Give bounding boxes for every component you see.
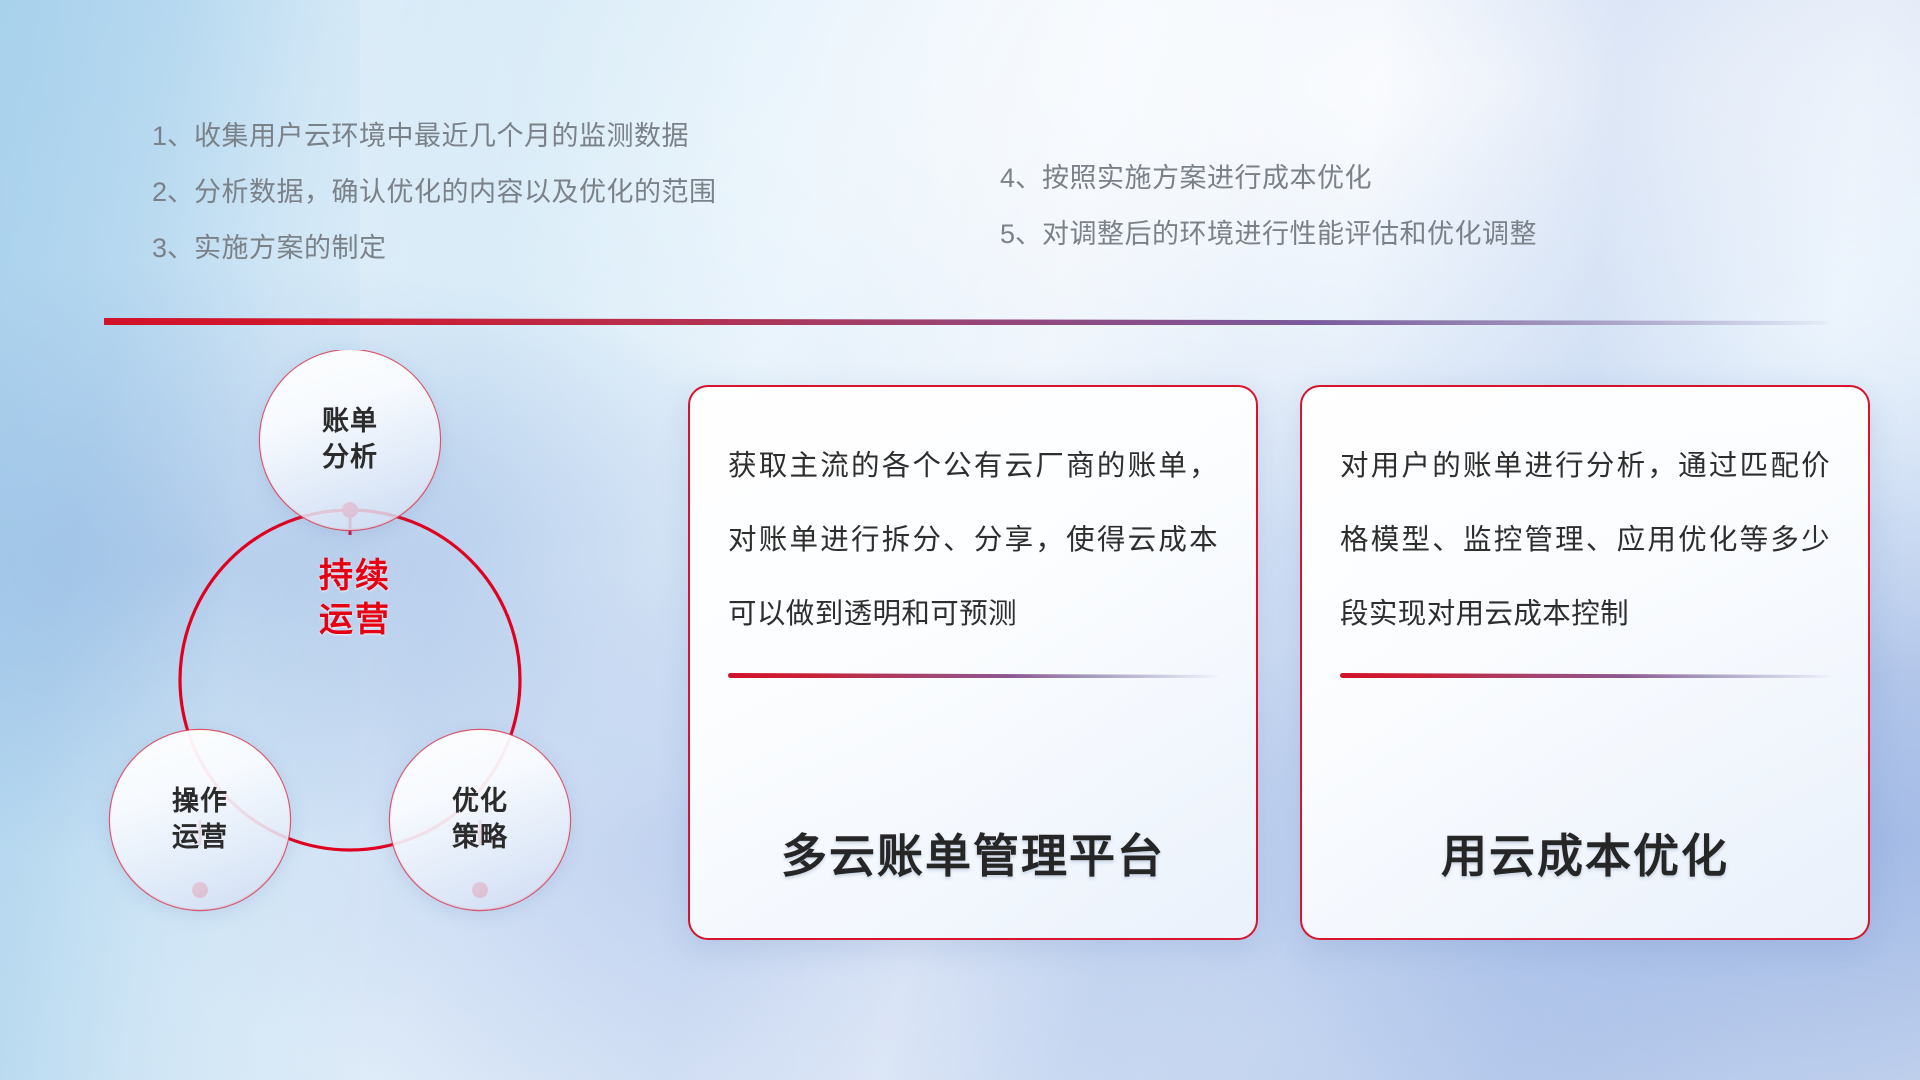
venn-bubble-line2: 策略: [452, 822, 508, 852]
list-item-text: 实施方案的制定: [194, 233, 387, 263]
venn-bubble-line1: 操作: [172, 786, 228, 816]
list-item: 4、按照实施方案进行成本优化: [1000, 150, 1537, 206]
feature-card-multicloud-billing[interactable]: 获取主流的各个公有云厂商的账单，对账单进行拆分、分享，使得云成本可以做到透明和可…: [688, 385, 1258, 940]
venn-bubble-label: 操作 运营: [172, 784, 228, 855]
card-divider: [1340, 673, 1830, 678]
venn-center-line1: 持续: [319, 557, 391, 595]
venn-bubble-operations[interactable]: 操作 运营: [110, 730, 290, 910]
list-item-number: 4、: [1000, 163, 1042, 193]
card-title: 用云成本优化: [1340, 820, 1830, 938]
section-divider: [104, 318, 1828, 325]
list-item-text: 按照实施方案进行成本优化: [1042, 163, 1372, 193]
venn-bubble-optimization-strategy[interactable]: 优化 策略: [390, 730, 570, 910]
list-item-number: 1、: [152, 121, 194, 151]
venn-bubble-line2: 运营: [172, 822, 228, 852]
venn-bubble-label: 优化 策略: [452, 784, 508, 855]
list-item-text: 收集用户云环境中最近几个月的监测数据: [194, 121, 689, 151]
venn-center-line2: 运营: [319, 601, 391, 639]
list-item-text: 对调整后的环境进行性能评估和优化调整: [1042, 219, 1537, 249]
card-title: 多云账单管理平台: [728, 820, 1218, 938]
feature-card-cost-optimization[interactable]: 对用户的账单进行分析，通过匹配价格模型、监控管理、应用优化等多少段实现对用云成本…: [1300, 385, 1870, 940]
list-item-number: 2、: [152, 177, 194, 207]
list-item-number: 3、: [152, 233, 194, 263]
venn-bubble-label: 账单 分析: [322, 404, 378, 475]
list-item: 2、分析数据，确认优化的内容以及优化的范围: [152, 164, 717, 220]
list-item: 5、对调整后的环境进行性能评估和优化调整: [1000, 206, 1537, 262]
slide-canvas: 1、收集用户云环境中最近几个月的监测数据 2、分析数据，确认优化的内容以及优化的…: [0, 0, 1920, 1080]
list-item: 1、收集用户云环境中最近几个月的监测数据: [152, 108, 717, 164]
venn-bubble-line2: 分析: [322, 442, 378, 472]
venn-center-label: 持续 运营: [295, 555, 415, 642]
list-item-text: 分析数据，确认优化的内容以及优化的范围: [194, 177, 717, 207]
card-divider: [728, 673, 1218, 678]
venn-diagram: 账单 分析 操作 运营 优化 策略 持续 运营: [100, 350, 620, 950]
list-item: 3、实施方案的制定: [152, 220, 717, 276]
card-body-text: 获取主流的各个公有云厂商的账单，对账单进行拆分、分享，使得云成本可以做到透明和可…: [728, 429, 1218, 651]
venn-bubble-line1: 优化: [452, 786, 508, 816]
steps-list-left: 1、收集用户云环境中最近几个月的监测数据 2、分析数据，确认优化的内容以及优化的…: [152, 108, 717, 276]
list-item-number: 5、: [1000, 219, 1042, 249]
steps-list-right: 4、按照实施方案进行成本优化 5、对调整后的环境进行性能评估和优化调整: [1000, 150, 1537, 262]
card-body-text: 对用户的账单进行分析，通过匹配价格模型、监控管理、应用优化等多少段实现对用云成本…: [1340, 429, 1830, 651]
venn-bubble-line1: 账单: [322, 406, 378, 436]
venn-bubble-bill-analysis[interactable]: 账单 分析: [260, 350, 440, 530]
